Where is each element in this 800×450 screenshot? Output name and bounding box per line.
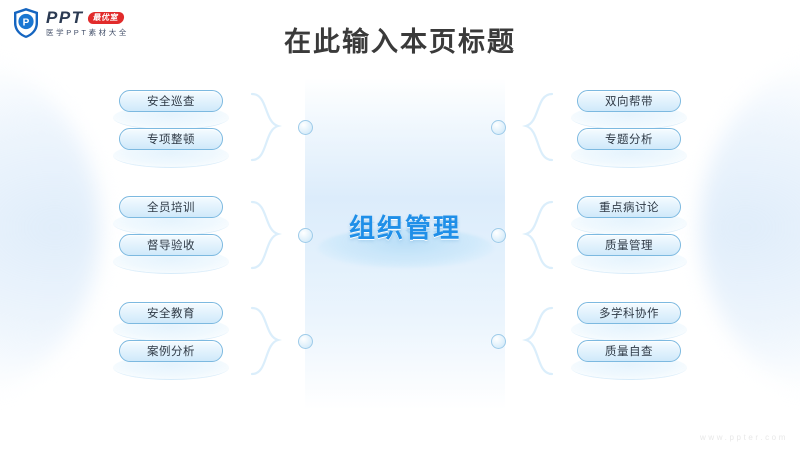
connector-node-right-3[interactable]: [491, 334, 506, 349]
left-item-2-2[interactable]: 督导验收: [112, 234, 230, 274]
pill-button[interactable]: 质量管理: [577, 234, 681, 256]
pill-label: 全员培训: [147, 199, 195, 215]
pill-button[interactable]: 多学科协作: [577, 302, 681, 324]
left-item-3-2[interactable]: 案例分析: [112, 340, 230, 380]
pill-button[interactable]: 督导验收: [119, 234, 223, 256]
pill-label: 专项整顿: [147, 131, 195, 147]
pill-button[interactable]: 专项整顿: [119, 128, 223, 150]
left-item-1-1[interactable]: 安全巡查: [112, 90, 230, 130]
left-item-1-2[interactable]: 专项整顿: [112, 128, 230, 168]
left-item-3-1[interactable]: 安全教育: [112, 302, 230, 342]
pill-button[interactable]: 专题分析: [577, 128, 681, 150]
connector-node-right-1[interactable]: [491, 120, 506, 135]
right-item-3-1[interactable]: 多学科协作: [570, 302, 688, 342]
right-item-2-2[interactable]: 质量管理: [570, 234, 688, 274]
right-item-1-2[interactable]: 专题分析: [570, 128, 688, 168]
right-group-2: 重点病讨论 质量管理: [570, 196, 688, 274]
slide-canvas: P PPT 最优室 医学PPT素材大全 在此输入本页标题 组织管理 组织管理: [0, 0, 800, 450]
center-label: 组织管理: [305, 208, 505, 245]
pill-label: 双向帮带: [605, 93, 653, 109]
left-item-2-1[interactable]: 全员培训: [112, 196, 230, 236]
background-arc-right: [700, 55, 800, 400]
brace-connector-right-2: [508, 200, 556, 272]
right-group-1: 双向帮带 专题分析: [570, 90, 688, 168]
pill-button[interactable]: 案例分析: [119, 340, 223, 362]
pill-label: 质量管理: [605, 237, 653, 253]
connector-node-left-1[interactable]: [298, 120, 313, 135]
page-title: 在此输入本页标题: [0, 20, 800, 59]
pill-label: 重点病讨论: [599, 199, 659, 215]
right-item-2-1[interactable]: 重点病讨论: [570, 196, 688, 236]
connector-node-right-2[interactable]: [491, 228, 506, 243]
connector-node-left-3[interactable]: [298, 334, 313, 349]
right-group-3: 多学科协作 质量自查: [570, 302, 688, 380]
left-group-2: 全员培训 督导验收: [112, 196, 230, 274]
connector-node-left-2[interactable]: [298, 228, 313, 243]
left-group-1: 安全巡查 专项整顿: [112, 90, 230, 168]
brace-connector-left-3: [248, 306, 296, 378]
brace-connector-right-3: [508, 306, 556, 378]
pill-button[interactable]: 重点病讨论: [577, 196, 681, 218]
brace-connector-right-1: [508, 92, 556, 164]
pill-label: 多学科协作: [599, 305, 659, 321]
pill-button[interactable]: 双向帮带: [577, 90, 681, 112]
pill-label: 专题分析: [605, 131, 653, 147]
pill-button[interactable]: 质量自查: [577, 340, 681, 362]
brace-connector-left-1: [248, 92, 296, 164]
right-item-3-2[interactable]: 质量自查: [570, 340, 688, 380]
pill-button[interactable]: 安全巡查: [119, 90, 223, 112]
pill-label: 案例分析: [147, 343, 195, 359]
right-item-1-1[interactable]: 双向帮带: [570, 90, 688, 130]
brace-connector-left-2: [248, 200, 296, 272]
site-watermark: www.ppter.com: [700, 433, 788, 442]
pill-label: 督导验收: [147, 237, 195, 253]
pill-label: 质量自查: [605, 343, 653, 359]
pill-label: 安全教育: [147, 305, 195, 321]
pill-button[interactable]: 安全教育: [119, 302, 223, 324]
pill-label: 安全巡查: [147, 93, 195, 109]
pill-button[interactable]: 全员培训: [119, 196, 223, 218]
left-group-3: 安全教育 案例分析: [112, 302, 230, 380]
background-arc-left: [0, 55, 100, 400]
